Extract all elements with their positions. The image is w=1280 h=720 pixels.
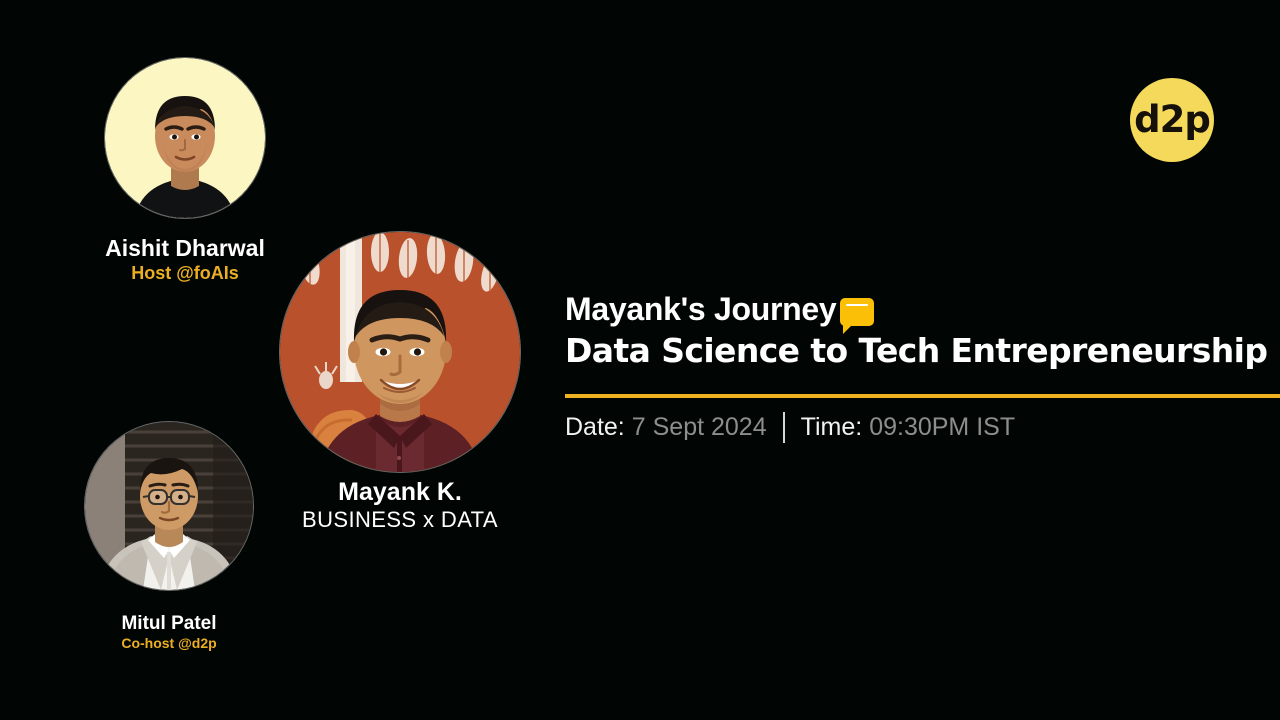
speech-bubble-line — [846, 304, 868, 306]
speaker-name: Mitul Patel — [69, 613, 269, 634]
speaker-name: Mayank K. — [280, 478, 520, 506]
speaker-block-mitul-patel: Mitul Patel Co-host @d2p — [69, 613, 269, 652]
avatar-mitul-patel-image — [85, 422, 253, 590]
avatar-mitul-patel — [85, 422, 253, 590]
speaker-block-mayank-k: Mayank K. BUSINESS x DATA — [280, 478, 520, 533]
event-headline: Data Science to Tech Entrepreneurship — [565, 333, 1280, 369]
event-time-value: 09:30PM IST — [869, 415, 1015, 440]
speaker-name: Aishit Dharwal — [65, 236, 305, 262]
event-time: Time: 09:30PM IST — [801, 415, 1015, 440]
schedule-separator — [783, 412, 785, 443]
speaker-role: BUSINESS x DATA — [280, 507, 520, 533]
speaker-role: Host @foAIs — [65, 263, 305, 285]
event-time-label: Time: — [801, 415, 863, 440]
speaker-role: Co-host @d2p — [69, 635, 269, 652]
avatar-aishit-dharwal-image — [105, 58, 265, 218]
speech-bubble-icon — [840, 298, 874, 326]
webinar-poster: d2p — [0, 0, 1280, 720]
d2p-logo: d2p — [1130, 78, 1214, 162]
event-info: Mayank's Journey Data Science to Tech En… — [565, 292, 1280, 369]
event-schedule: Date: 7 Sept 2024 Time: 09:30PM IST — [565, 412, 1015, 443]
event-eyebrow: Mayank's Journey — [565, 292, 1280, 327]
avatar-mayank-k — [280, 232, 520, 472]
gold-divider — [565, 394, 1280, 398]
event-date-value: 7 Sept 2024 — [632, 415, 767, 440]
avatar-mayank-k-image — [280, 232, 520, 472]
event-date: Date: 7 Sept 2024 — [565, 415, 767, 440]
d2p-logo-text: d2p — [1134, 101, 1210, 138]
avatar-aishit-dharwal — [105, 58, 265, 218]
event-date-label: Date: — [565, 415, 625, 440]
speaker-block-aishit-dharwal: Aishit Dharwal Host @foAIs — [65, 236, 305, 284]
event-eyebrow-text: Mayank's Journey — [565, 292, 836, 327]
